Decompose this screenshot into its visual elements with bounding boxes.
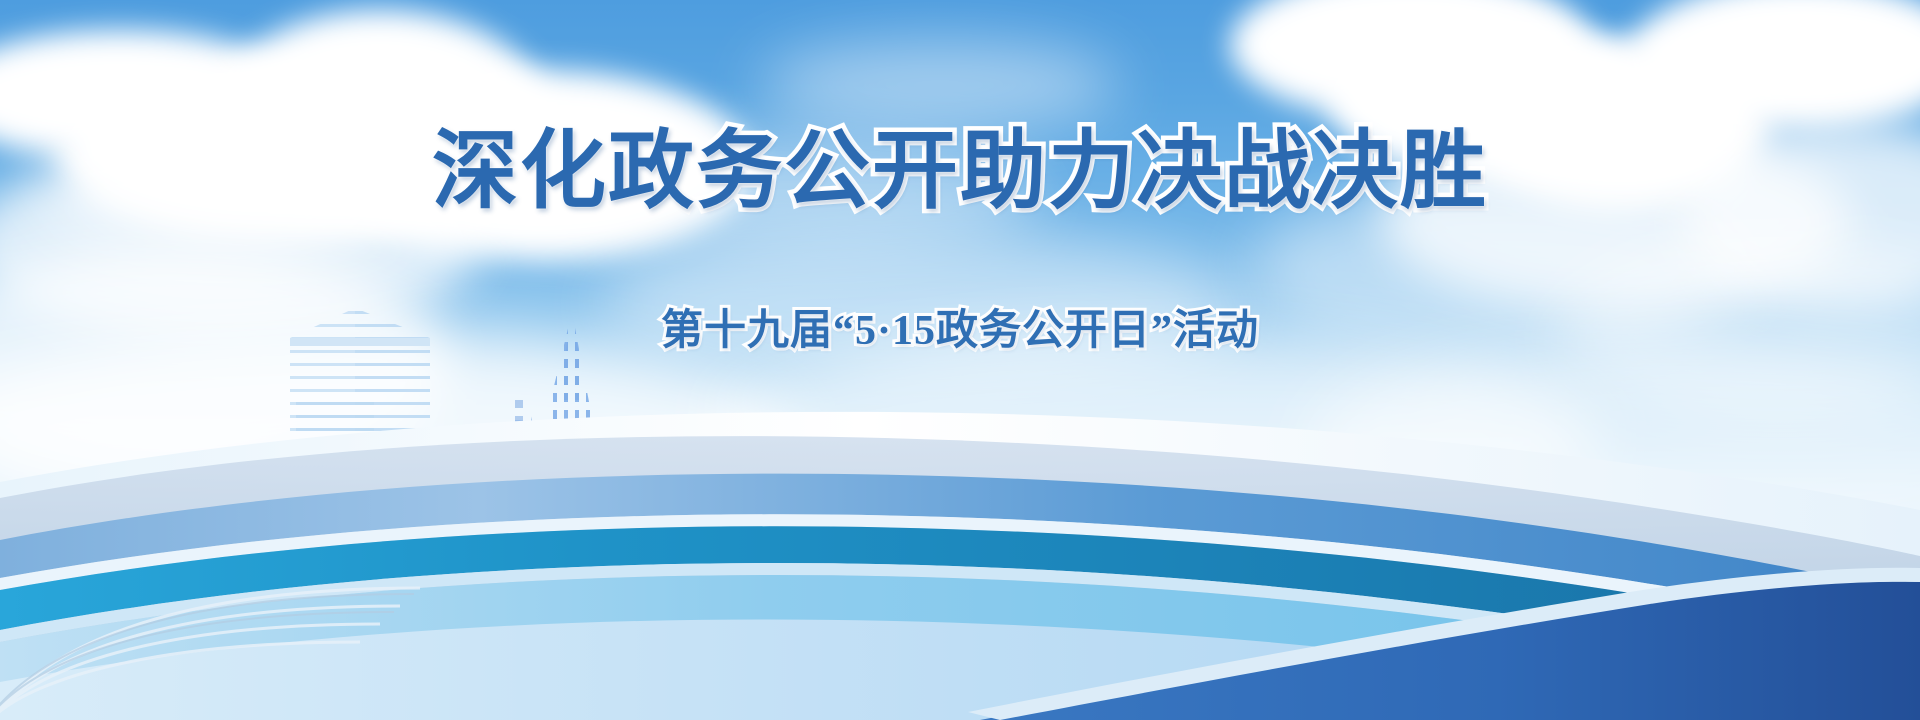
banner-root: 深化政务公开助力决战决胜 第十九届“5·15政务公开日”活动 [0, 0, 1920, 720]
wave-ribbons-svg [0, 390, 1920, 720]
wave-ribbons [0, 390, 1920, 720]
cloud-shape [760, 40, 1120, 130]
